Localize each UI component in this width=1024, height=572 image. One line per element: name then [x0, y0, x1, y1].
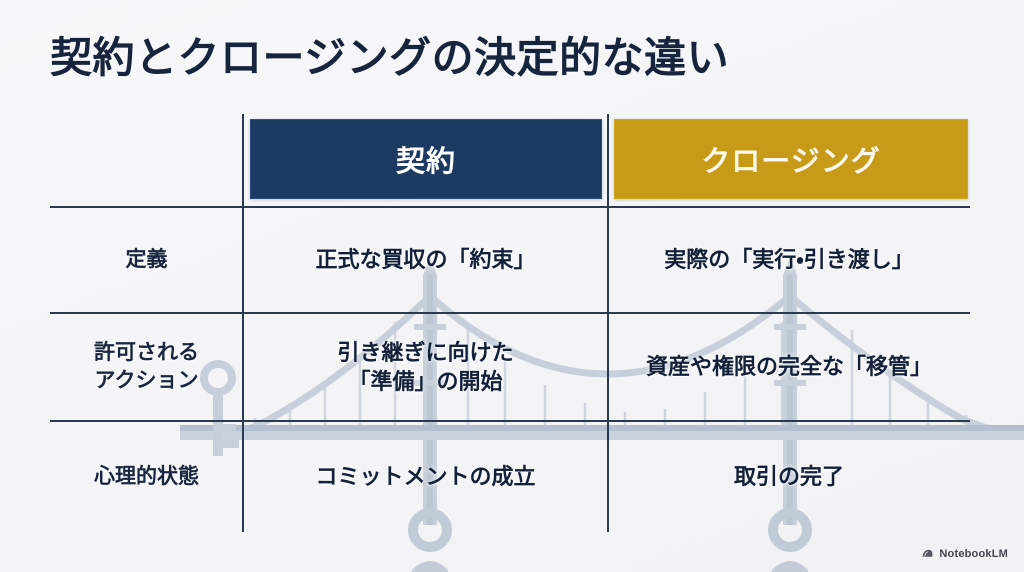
cell-allowed-actions-closing: 資産や権限の完全な「移管」 — [608, 314, 970, 420]
table-header-row: 契約 クロージング — [50, 114, 970, 202]
slide-title: 契約とクロージングの決定的な違い — [50, 24, 729, 85]
cell-line-2: 「準備」の開始 — [348, 369, 502, 394]
table-row: 定義 正式な買収の「約束」 実際の「実行・引き渡し」 — [50, 208, 970, 312]
cell-psychological-state-contract: コミットメントの成立 — [243, 422, 608, 532]
notebooklm-label: NotebookLM — [939, 548, 1008, 560]
row-label-definition: 定義 — [50, 208, 243, 312]
notebooklm-watermark: NotebookLM — [921, 547, 1008, 560]
row-label-psychological-state: 心理的状態 — [50, 422, 243, 532]
row-label-line-2: アクション — [95, 369, 199, 392]
row-label-line-1: 許可される — [94, 341, 199, 364]
table-row: 許可される アクション 引き継ぎに向けた 「準備」の開始 資産や権限の完全な「移… — [50, 314, 970, 420]
table-row: 心理的状態 コミットメントの成立 取引の完了 — [50, 422, 970, 532]
cell-definition-closing: 実際の「実行・引き渡し」 — [608, 208, 970, 312]
comparison-table: 契約 クロージング 定義 正式な買収の「約束」 実際の「実行・引き渡し」 許可さ… — [50, 114, 970, 532]
cell-psychological-state-closing: 取引の完了 — [608, 422, 970, 532]
column-header-closing: クロージング — [614, 119, 968, 199]
cell-definition-contract: 正式な買収の「約束」 — [243, 208, 608, 312]
cell-line-1: 引き継ぎに向けた — [337, 340, 513, 365]
cell-allowed-actions-contract: 引き継ぎに向けた 「準備」の開始 — [243, 314, 608, 420]
row-label-allowed-actions: 許可される アクション — [50, 314, 243, 420]
column-header-contract: 契約 — [250, 119, 602, 199]
notebooklm-icon — [921, 547, 934, 560]
slide-canvas: 契約とクロージングの決定的な違い 契約 クロージング 定義 正式な買収の「約束」… — [0, 0, 1024, 572]
